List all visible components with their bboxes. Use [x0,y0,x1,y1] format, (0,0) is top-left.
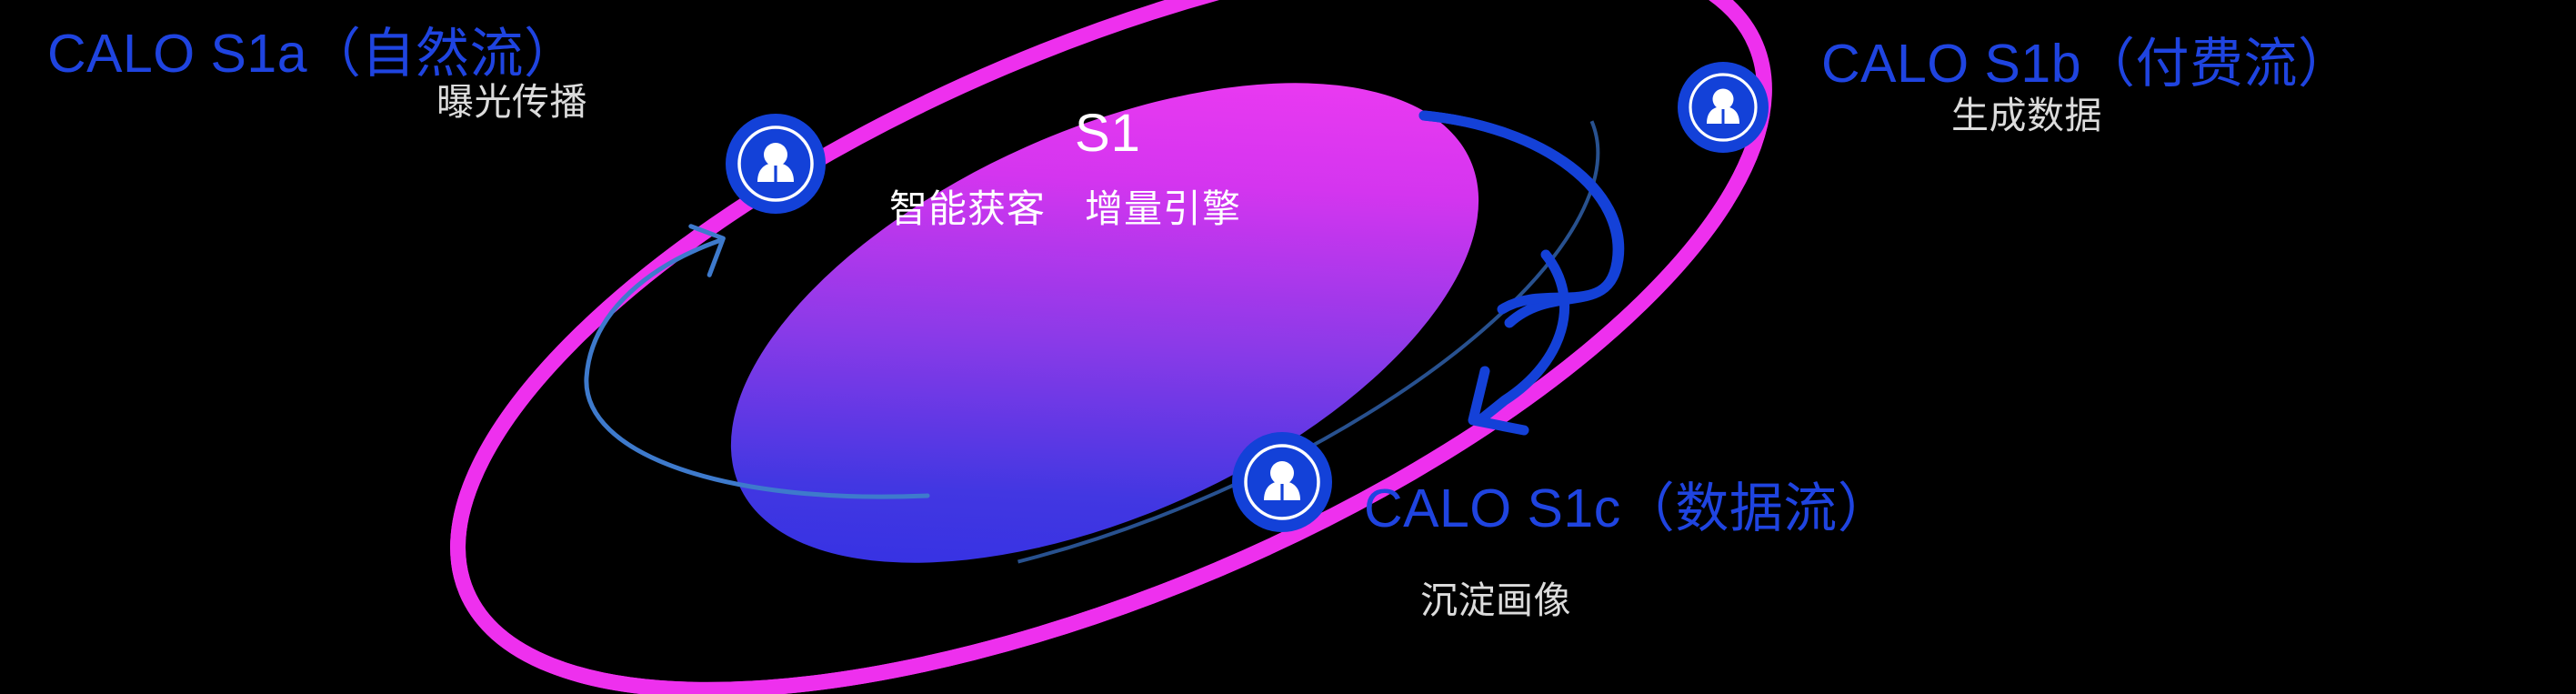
diagram-canvas: S1 智能获客 增量引擎 CALO S1a（自然流） 曝光传播 CALO S1b… [0,0,2576,694]
node-caption-s1b: 生成数据 [1951,96,2102,136]
badge-s1a[interactable] [726,114,826,214]
badge-s1c[interactable] [1232,432,1332,532]
orbit-diagram [0,0,2576,694]
core-subtitle: 智能获客 增量引擎 [889,178,1241,234]
core-ellipse [661,0,1549,662]
node-title-s1a[interactable]: CALO S1a（自然流） [47,25,578,84]
node-caption-s1a: 曝光传播 [436,82,587,123]
badge-s1b[interactable] [1678,62,1769,153]
core-title: S1 [1075,103,1141,164]
node-title-s1b[interactable]: CALO S1b（付费流） [1821,35,2352,94]
node-caption-s1c: 沉淀画像 [1420,580,1571,621]
node-title-s1c[interactable]: CALO S1c（数据流） [1364,479,1891,538]
